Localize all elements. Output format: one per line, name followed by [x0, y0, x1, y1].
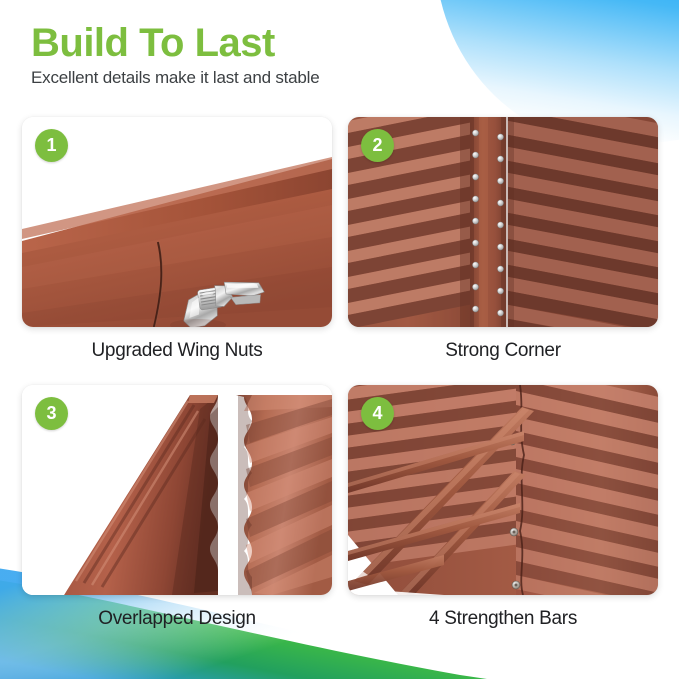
feature-cell-4: 4 4 Strengthen Bars [348, 385, 658, 630]
wing-nut-closeup-image [22, 117, 332, 327]
feature-grid: 1 Upgraded Wing Nuts [22, 117, 658, 630]
feature-cell-2: 2 Strong Corner [348, 117, 658, 362]
infographic-page: Build To Last Excellent details make it … [0, 0, 679, 679]
feature-row-top: 1 Upgraded Wing Nuts [22, 117, 658, 362]
badge-number-1: 1 [35, 129, 68, 162]
overlapping-panel-edges-image [22, 385, 332, 595]
feature-row-bottom: 3 Overlapped Design [22, 385, 658, 630]
feature-cell-3: 3 Overlapped Design [22, 385, 332, 630]
feature-caption-2: Strong Corner [348, 340, 658, 362]
header: Build To Last Excellent details make it … [31, 22, 531, 88]
badge-number-3: 3 [35, 397, 68, 430]
page-subtitle: Excellent details make it last and stabl… [31, 68, 531, 88]
feature-card-3[interactable]: 3 [22, 385, 332, 595]
feature-card-1[interactable]: 1 [22, 117, 332, 327]
feature-caption-3: Overlapped Design [22, 608, 332, 630]
cross-support-bars-image [348, 385, 658, 595]
badge-number-4: 4 [361, 397, 394, 430]
feature-caption-1: Upgraded Wing Nuts [22, 340, 332, 362]
feature-caption-4: 4 Strengthen Bars [348, 608, 658, 630]
corrugated-corner-bracket-image [348, 117, 658, 327]
page-title: Build To Last [31, 22, 531, 64]
feature-cell-1: 1 Upgraded Wing Nuts [22, 117, 332, 362]
feature-card-4[interactable]: 4 [348, 385, 658, 595]
badge-number-2: 2 [361, 129, 394, 162]
feature-card-2[interactable]: 2 [348, 117, 658, 327]
